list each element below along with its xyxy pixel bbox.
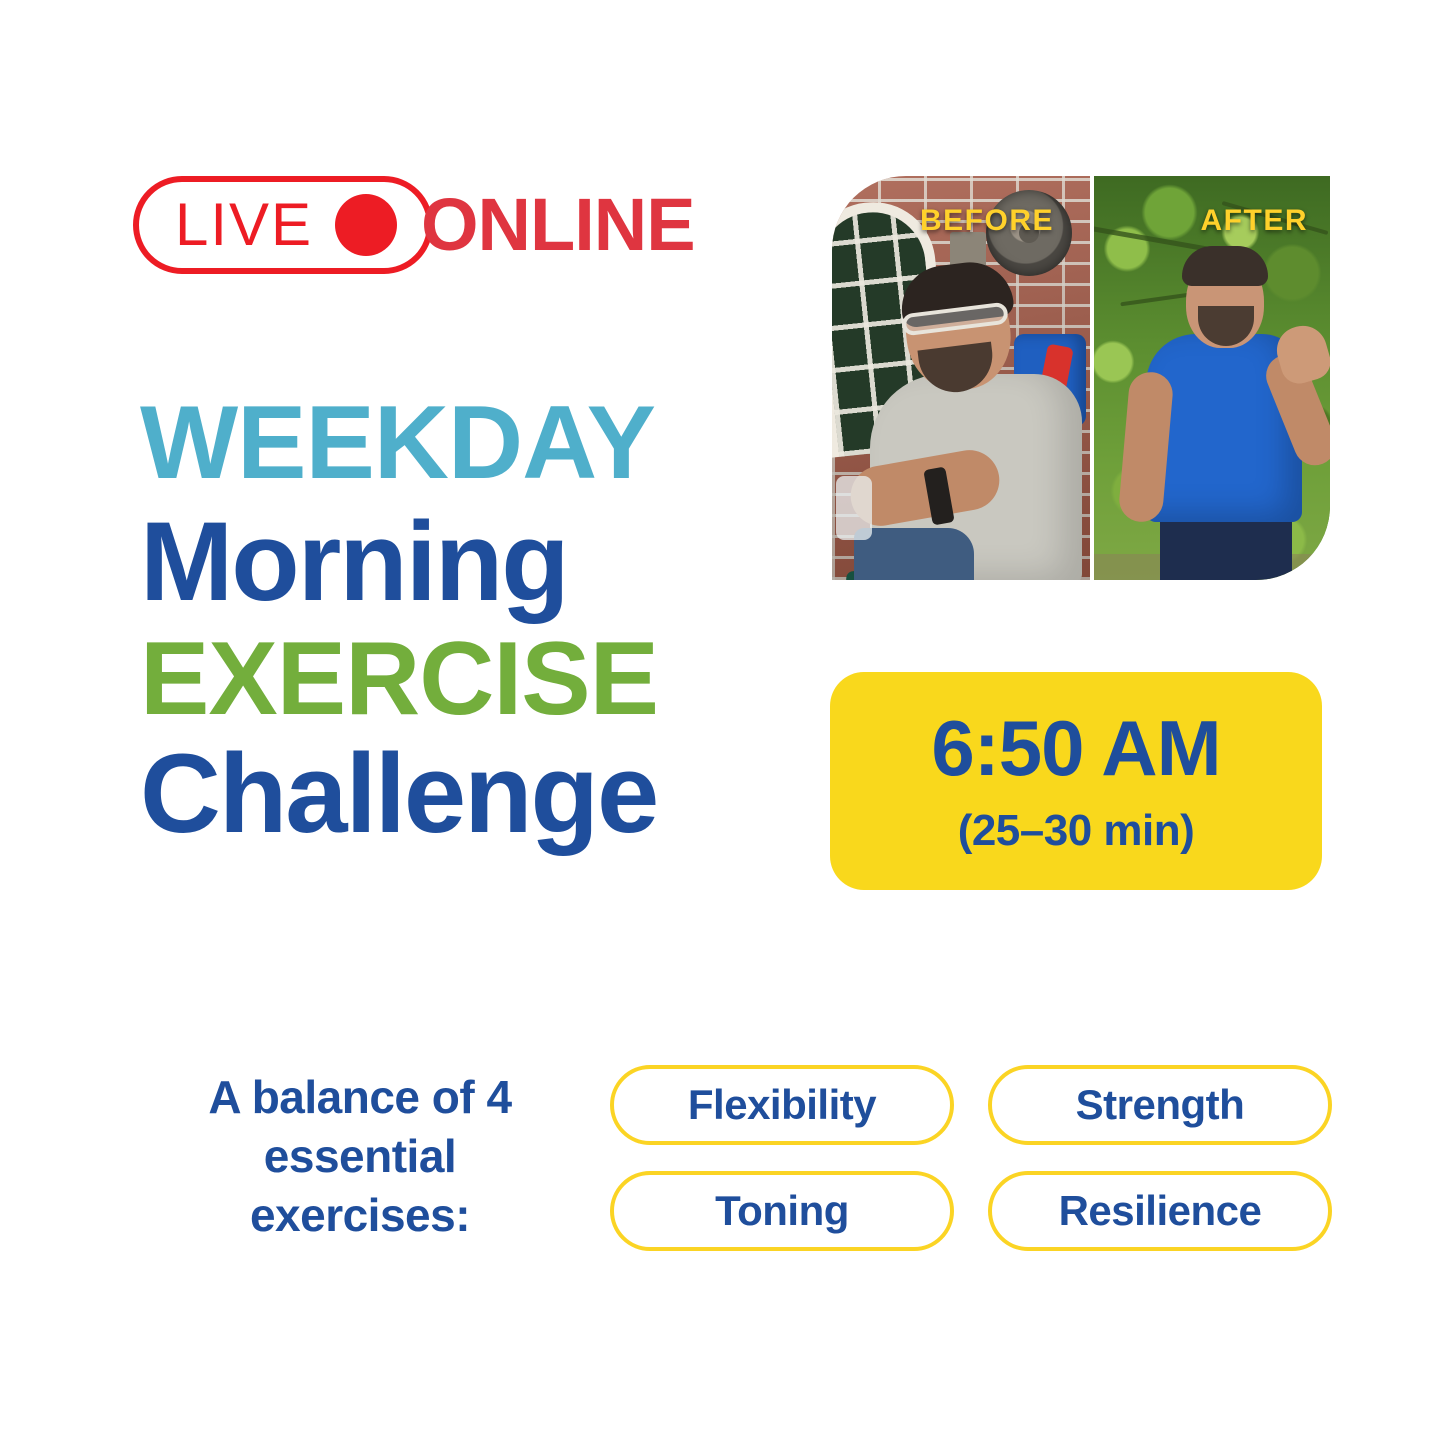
headline-block: WEEKDAY Morning EXERCISE Challenge: [140, 392, 780, 850]
class-duration-value: (25–30 min): [958, 809, 1195, 853]
balance-caption: A balance of 4 essential exercises:: [150, 1068, 570, 1245]
before-after-photo-collage: BEFORE AFTER: [832, 176, 1330, 580]
live-label: LIVE: [175, 195, 313, 255]
live-pill: LIVE: [133, 176, 433, 274]
live-online-badge: LIVE ONLINE: [133, 176, 695, 274]
exercise-pill-group: Flexibility Strength Toning Resilience: [610, 1065, 1332, 1251]
class-time-value: 6:50 AM: [931, 709, 1220, 787]
class-time-badge: 6:50 AM (25–30 min): [830, 672, 1322, 890]
headline-line-exercise: EXERCISE: [140, 628, 780, 731]
exercise-pill-resilience[interactable]: Resilience: [988, 1171, 1332, 1251]
headline-line-challenge: Challenge: [140, 739, 780, 850]
online-label: ONLINE: [421, 188, 695, 262]
exercise-pill-toning[interactable]: Toning: [610, 1171, 954, 1251]
headline-line-weekday: WEEKDAY: [140, 392, 780, 495]
record-dot-icon: [335, 194, 397, 256]
water-bottle-object: [836, 476, 872, 540]
exercise-pill-strength[interactable]: Strength: [988, 1065, 1332, 1145]
before-photo: BEFORE: [832, 176, 1090, 580]
before-label: BEFORE: [920, 204, 1054, 238]
before-person-jeans: [854, 528, 974, 580]
exercise-pill-flexibility[interactable]: Flexibility: [610, 1065, 954, 1145]
headline-line-morning: Morning: [140, 507, 780, 618]
after-label: AFTER: [1201, 204, 1309, 238]
after-person-hair: [1182, 246, 1268, 286]
after-photo: AFTER: [1094, 176, 1330, 580]
